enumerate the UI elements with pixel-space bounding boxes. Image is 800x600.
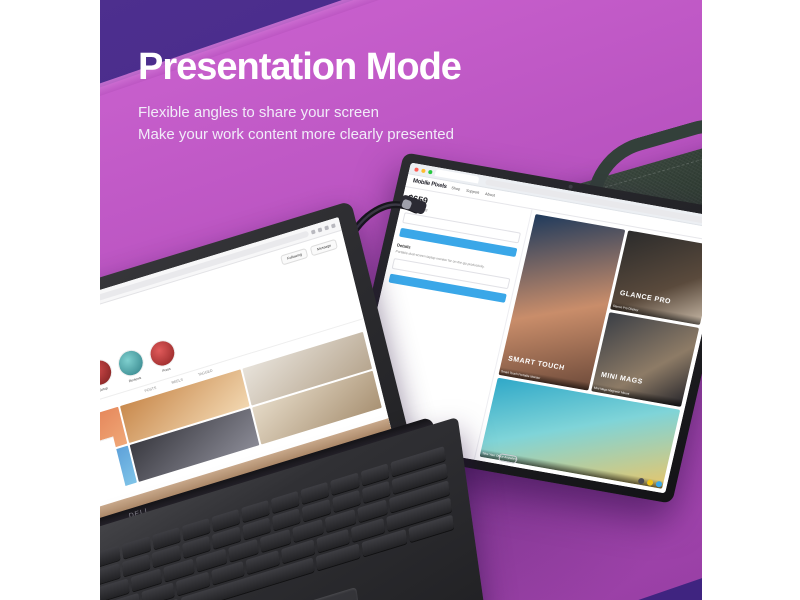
close-icon[interactable] [414, 167, 419, 172]
nav-item-shop[interactable]: Shop [451, 186, 461, 191]
minimize-icon[interactable] [421, 168, 426, 173]
tab-reels[interactable]: REELS [171, 377, 183, 384]
menu-icon[interactable] [638, 478, 645, 485]
emoji-icon[interactable] [646, 479, 653, 486]
highlight-item[interactable]: Setup [100, 356, 116, 395]
nav-item-about[interactable]: About [485, 192, 496, 198]
nav-item-support[interactable]: Support [466, 189, 480, 195]
promotional-banner: Mobile Pixels Shop Support About $659 Fr… [0, 0, 800, 600]
banner-subtitle: Flexible angles to share your screen Mak… [138, 102, 461, 146]
highlight-item[interactable]: Press [147, 337, 180, 376]
product-card: MINI MAGS Mini Mags Magnetic Mount [591, 312, 699, 407]
subtitle-line-2: Make your work content more clearly pres… [138, 124, 461, 146]
kickstarter-logo: KICKSTARTER [100, 456, 116, 497]
menu-icon[interactable] [331, 223, 336, 228]
subtitle-line-1: Flexible angles to share your screen [138, 102, 461, 124]
following-button[interactable]: Following [280, 248, 308, 266]
bookmark-icon[interactable] [317, 227, 322, 232]
card-word: MINI MAGS [600, 372, 643, 386]
left-page-margin [0, 0, 100, 600]
product-card: GLANCE PRO Glance Pro Display [610, 230, 702, 325]
right-page-margin [702, 0, 800, 600]
banner-copy: Presentation Mode Flexible angles to sha… [138, 48, 461, 145]
extensions-icon[interactable] [311, 229, 316, 234]
monitor-camera-icon [568, 184, 573, 189]
highlight-item[interactable]: Reviews [115, 346, 148, 385]
profile-icon[interactable] [324, 225, 329, 230]
message-button[interactable]: Message [310, 239, 338, 256]
page-title: Presentation Mode [138, 48, 461, 88]
maximize-icon[interactable] [428, 169, 433, 174]
